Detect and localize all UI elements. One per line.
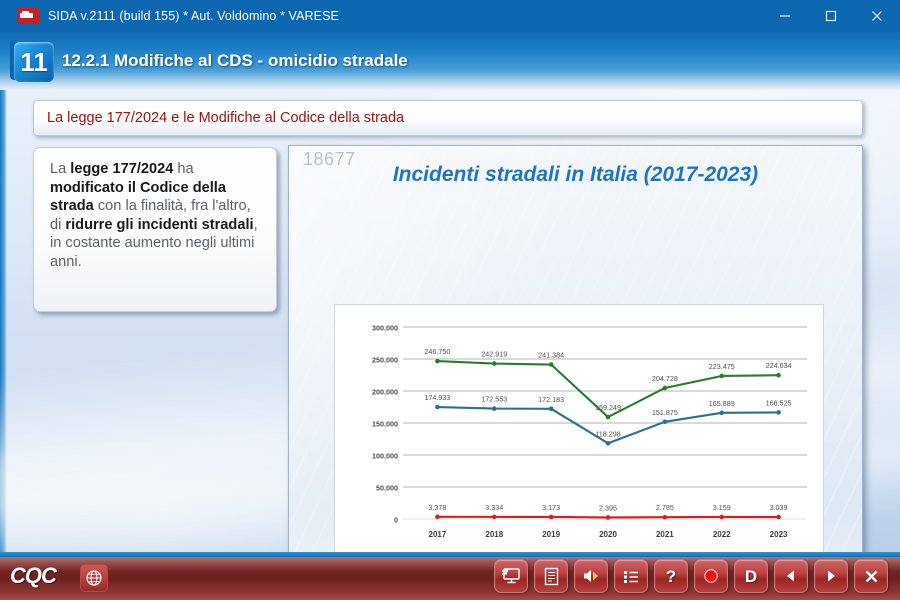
data-point	[492, 515, 497, 520]
data-label: 3.173	[542, 503, 560, 512]
section-header: 11 12.2.1 Modifiche al CDS - omicidio st…	[0, 32, 900, 90]
slide-area: La legge 177/2024 e le Modifiche al Codi…	[0, 90, 900, 552]
data-point	[549, 515, 554, 520]
data-label: 2.785	[656, 503, 674, 512]
info-text-strong: legge 177/2024	[70, 161, 173, 177]
record-icon[interactable]	[694, 559, 728, 593]
info-text-card: La legge 177/2024 ha modificato il Codic…	[33, 147, 277, 312]
data-point	[719, 515, 724, 520]
data-point	[776, 373, 781, 378]
chart-title: Incidenti stradali in Italia (2017-2023)	[289, 163, 862, 187]
x-axis-tick-label: 2019	[542, 530, 560, 539]
info-text-strong: ridurre gli incidenti stradali	[65, 217, 253, 233]
chapter-badge: 11	[10, 38, 56, 84]
next-icon[interactable]	[814, 559, 848, 593]
y-axis-tick-label: 100.000	[372, 451, 398, 460]
help-icon[interactable]: ?	[654, 559, 688, 593]
y-axis-tick-label: 200.000	[372, 387, 398, 396]
x-axis-tick-label: 2021	[656, 530, 674, 539]
x-axis-tick-label: 2020	[599, 530, 617, 539]
x-axis-tick-label: 2018	[485, 530, 503, 539]
chart-container: 050.000100.000150.000200.000250.000300.0…	[334, 304, 824, 552]
data-point	[606, 515, 611, 520]
window-title: SIDA v.2111 (build 155) * Aut. Voldomino…	[48, 9, 339, 23]
data-label: 118.298	[595, 429, 620, 438]
data-point	[549, 362, 554, 367]
data-point	[492, 406, 497, 411]
data-label: 246.750	[424, 347, 450, 356]
x-axis-tick-label: 2022	[713, 530, 731, 539]
data-label: 204.728	[652, 374, 678, 383]
window-controls	[762, 0, 900, 32]
data-label: 241.384	[538, 351, 564, 360]
data-point	[719, 374, 724, 379]
data-point	[663, 420, 668, 425]
data-point	[606, 415, 611, 420]
data-point	[663, 515, 668, 520]
close-icon[interactable]	[854, 0, 900, 32]
application-window: SIDA v.2111 (build 155) * Aut. Voldomino…	[0, 0, 900, 600]
data-point	[435, 405, 440, 410]
x-axis-tick-label: 2023	[770, 530, 788, 539]
dictionary-glyph: D	[745, 568, 757, 585]
title-bar: SIDA v.2111 (build 155) * Aut. Voldomino…	[0, 0, 900, 32]
y-axis-tick-label: 50.000	[376, 483, 398, 492]
maximize-icon[interactable]	[808, 0, 854, 32]
data-label: 172.553	[481, 395, 507, 404]
chart-panel: 18677 Incidenti stradali in Italia (2017…	[288, 145, 863, 552]
data-point	[606, 441, 611, 446]
data-label: 223.475	[709, 362, 735, 371]
data-point	[663, 386, 668, 391]
info-text-span: La	[50, 161, 70, 177]
data-label: 172.183	[538, 395, 564, 404]
data-point	[492, 361, 497, 366]
cqc-logo: CQC	[10, 563, 72, 589]
data-label: 3.334	[485, 503, 503, 512]
dictionary-icon[interactable]: D	[734, 559, 768, 593]
y-axis-tick-label: 150.000	[372, 419, 398, 428]
help-glyph: ?	[666, 568, 676, 585]
data-label: 174.933	[424, 393, 450, 402]
subtitle-text: La legge 177/2024 e le Modifiche al Codi…	[34, 110, 404, 126]
data-label: 151.875	[652, 408, 678, 417]
x-axis-tick-label: 2017	[429, 530, 447, 539]
data-point	[435, 359, 440, 364]
page-title: 12.2.1 Modifiche al CDS - omicidio strad…	[62, 32, 408, 90]
data-point	[435, 515, 440, 520]
sound-icon[interactable]	[574, 559, 608, 593]
previous-icon[interactable]	[774, 559, 808, 593]
list-icon[interactable]	[614, 559, 648, 593]
badge-number: 11	[20, 49, 48, 75]
toolbar-buttons: ? D	[494, 558, 888, 594]
bottom-toolbar: CQC	[0, 552, 900, 600]
data-label: 166.525	[766, 398, 792, 407]
close-icon[interactable]	[854, 559, 888, 593]
data-point	[776, 410, 781, 415]
data-point	[776, 515, 781, 520]
data-label: 3.159	[713, 503, 731, 512]
document-icon[interactable]	[534, 559, 568, 593]
data-point	[719, 411, 724, 416]
data-label: 224.634	[766, 361, 792, 370]
data-point	[549, 407, 554, 412]
info-text: La legge 177/2024 ha modificato il Codic…	[50, 160, 262, 271]
data-label: 165.889	[709, 399, 735, 408]
data-label: 3.039	[770, 503, 788, 512]
presentation-icon[interactable]	[494, 559, 528, 593]
y-axis-tick-label: 300.000	[372, 323, 398, 332]
y-axis-tick-label: 250.000	[372, 355, 398, 364]
data-label: 2.395	[599, 503, 617, 512]
minimize-icon[interactable]	[762, 0, 808, 32]
globe-icon[interactable]	[80, 564, 108, 592]
info-text-span: ha	[173, 161, 193, 177]
badge-face: 11	[14, 42, 54, 82]
data-label: 242.919	[481, 350, 507, 359]
vehicle-icon	[17, 8, 39, 24]
y-axis-tick-label: 0	[394, 515, 398, 524]
line-chart: 050.000100.000150.000200.000250.000300.0…	[335, 305, 825, 552]
subtitle-bar: La legge 177/2024 e le Modifiche al Codi…	[33, 100, 863, 136]
data-label: 159.249	[595, 403, 621, 412]
data-label: 3.378	[428, 503, 446, 512]
